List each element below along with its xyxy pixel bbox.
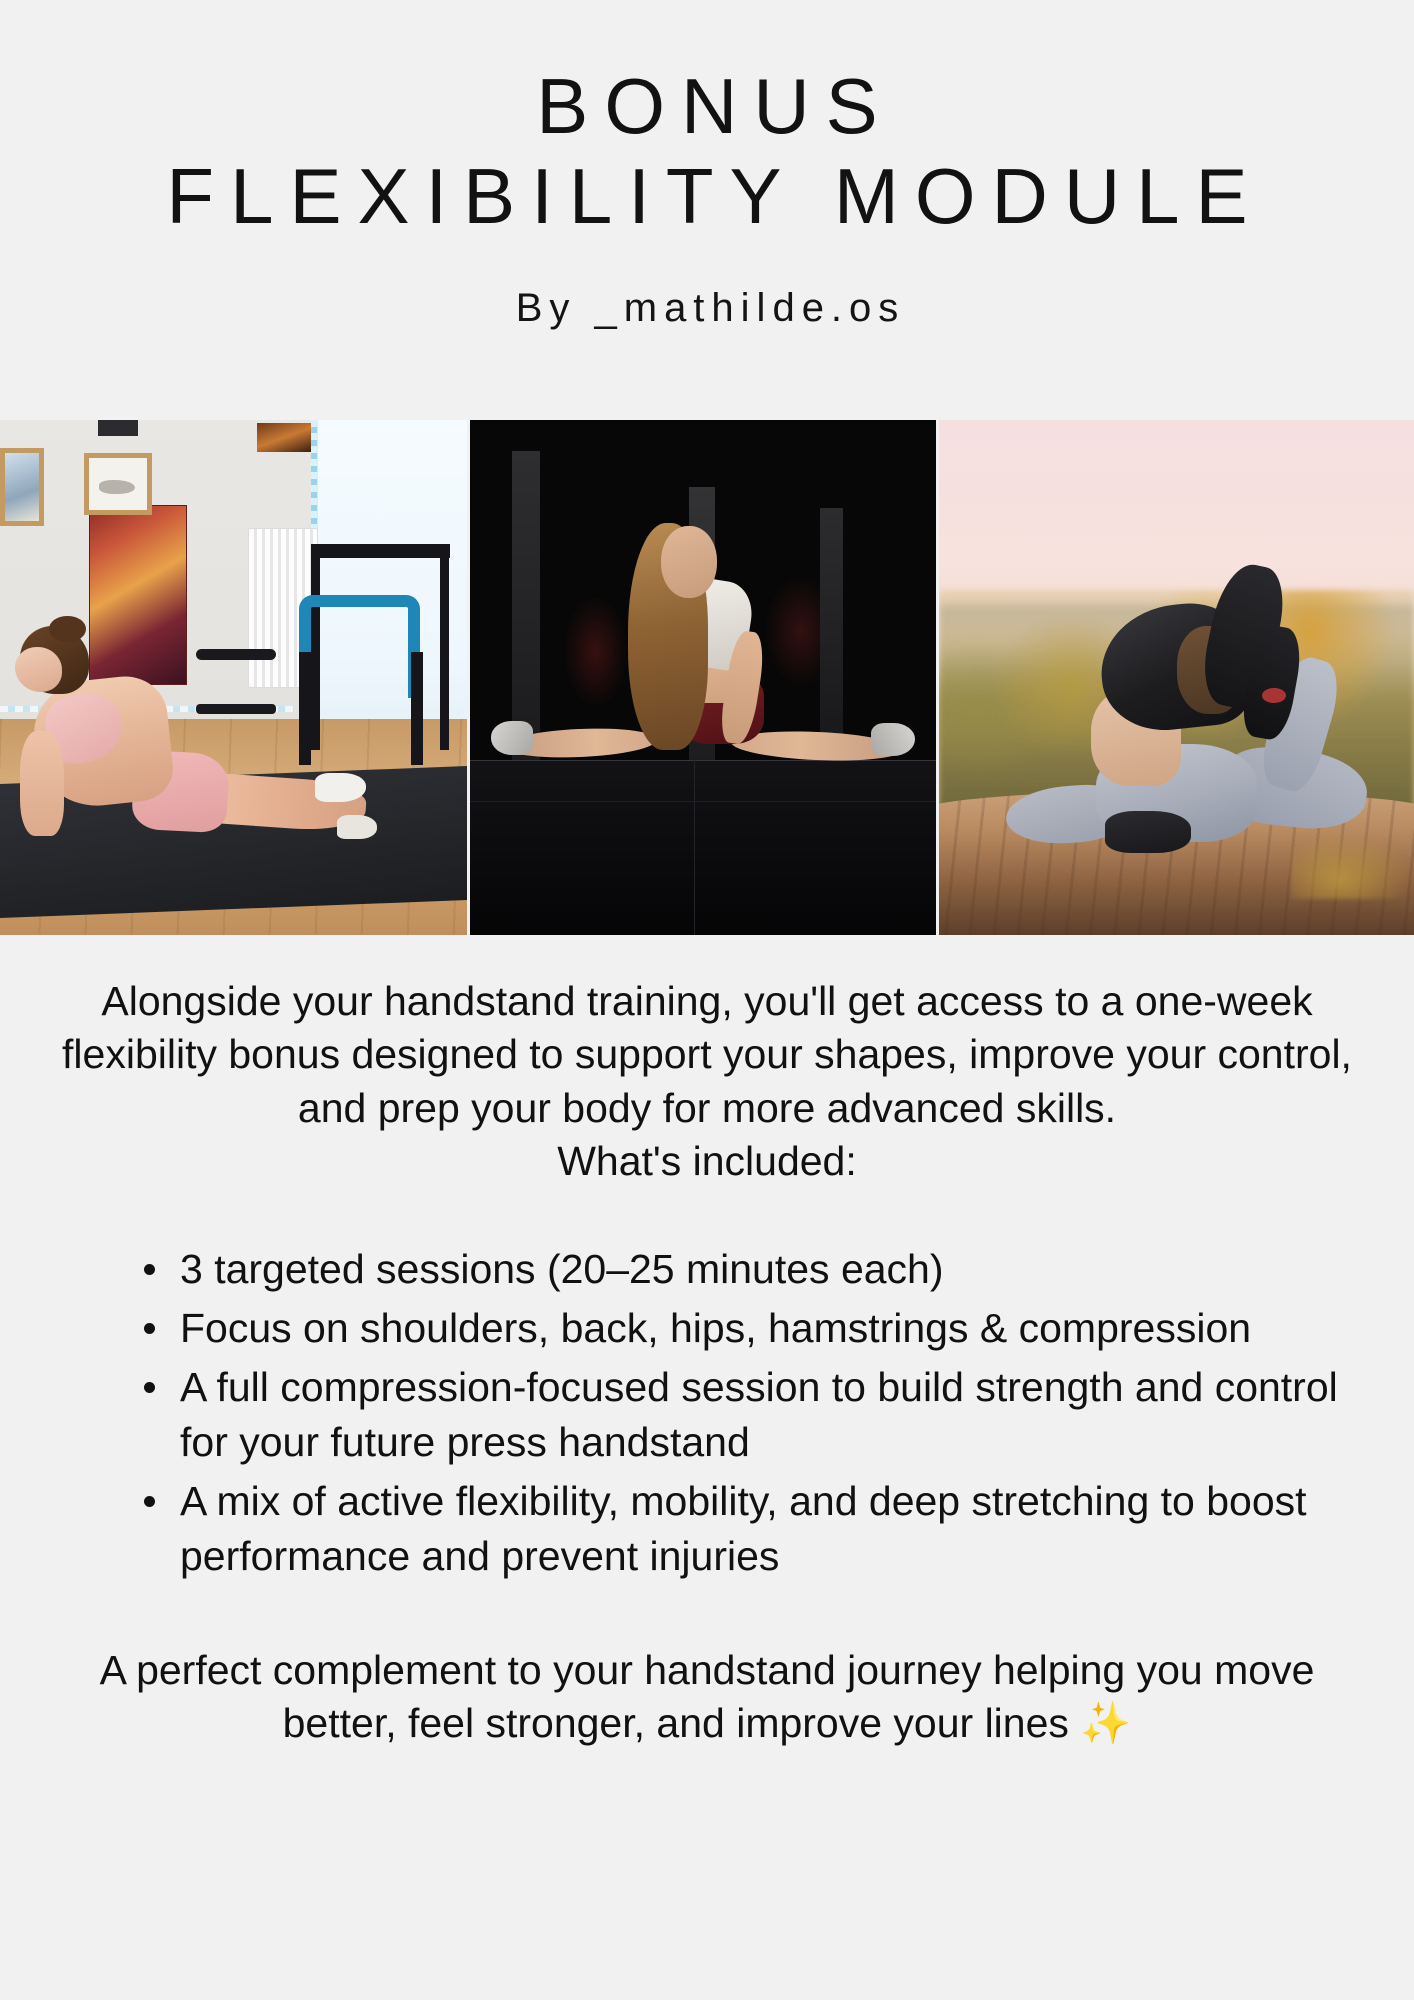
grass-tuft <box>1291 832 1414 899</box>
list-item: A full compression-focused session to bu… <box>136 1360 1356 1470</box>
blue-bar-leg-right <box>411 652 423 765</box>
pillar-right <box>820 508 843 750</box>
intro-text: Alongside your handstand training, you'l… <box>62 978 1352 1131</box>
floor-seam <box>470 801 936 802</box>
sock-left <box>491 721 533 754</box>
photo-gallery <box>0 420 1414 935</box>
list-item: 3 targeted sessions (20–25 minutes each) <box>136 1242 1356 1297</box>
shoe <box>1105 811 1191 852</box>
list-item: A mix of active flexibility, mobility, a… <box>136 1474 1356 1584</box>
hair-bun <box>49 616 85 642</box>
included-list: 3 targeted sessions (20–25 minutes each)… <box>58 1242 1356 1584</box>
framed-picture-top-right <box>257 423 311 452</box>
body-content: Alongside your handstand training, you'l… <box>0 975 1414 1750</box>
supporting-arm <box>20 731 64 836</box>
warm-glow-left <box>563 595 628 708</box>
author-byline: By _mathilde.os <box>0 286 1414 331</box>
flyer-page: BONUS FLEXIBILITY MODULE By _mathilde.os <box>0 0 1414 2000</box>
header: BONUS FLEXIBILITY MODULE By _mathilde.os <box>0 0 1414 331</box>
head <box>661 526 717 598</box>
sock-left <box>315 773 366 802</box>
sparkles-icon: ✨ <box>1080 1700 1131 1746</box>
photo-cobra-pose-home-gym <box>0 420 467 935</box>
photo-middle-splits-dark-studio <box>470 420 936 935</box>
framed-picture-left <box>0 448 44 525</box>
list-item: Focus on shoulders, back, hips, hamstrin… <box>136 1301 1356 1356</box>
brand-logo <box>1262 688 1286 703</box>
sock-right <box>337 815 377 839</box>
photo-mermaid-pose-sunset-rock <box>939 420 1414 935</box>
whats-included-label: What's included: <box>557 1138 857 1184</box>
framed-picture-center <box>84 453 152 515</box>
page-title-line-2: FLEXIBILITY MODULE <box>0 156 1414 238</box>
page-title-line-1: BONUS <box>0 66 1414 148</box>
outro-paragraph: A perfect complement to your handstand j… <box>58 1644 1356 1751</box>
framed-picture-top <box>98 420 138 436</box>
outro-text: A perfect complement to your handstand j… <box>100 1647 1315 1746</box>
head <box>15 647 62 692</box>
athlete-figure <box>9 621 373 884</box>
rig-post <box>440 544 449 750</box>
intro-paragraph: Alongside your handstand training, you'l… <box>58 975 1356 1188</box>
studio-floor <box>470 760 936 935</box>
